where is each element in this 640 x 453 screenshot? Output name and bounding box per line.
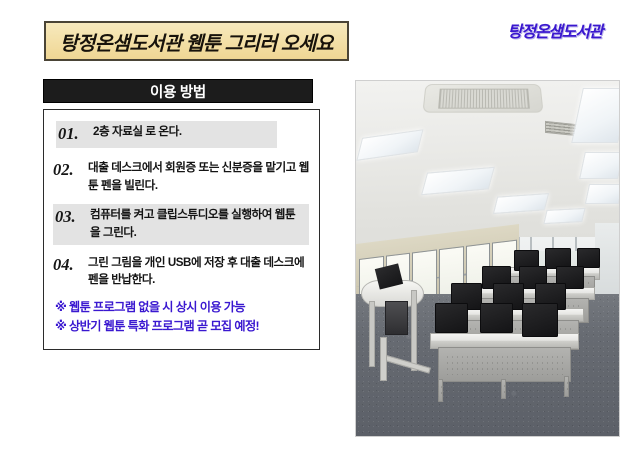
step-number: 04. <box>53 254 85 276</box>
lectern-leg <box>411 290 417 370</box>
room-photo-image <box>356 81 619 436</box>
desk-modesty-panel <box>438 347 572 383</box>
cart-bar <box>380 337 387 382</box>
desk-leg <box>564 376 570 398</box>
notes-block: ※ 웹툰 프로그램 없을 시 상시 이용 가능 ※ 상반기 웹툰 특화 프로그램… <box>51 298 312 336</box>
room-photo <box>355 80 620 437</box>
step-number: 02. <box>53 159 85 181</box>
step-text: 대출 데스크에서 회원증 또는 신분증을 맡기고 웹툰 펜을 빌린다. <box>88 159 312 195</box>
ceiling-ac-unit <box>423 84 544 113</box>
page-header: 탕정온샘도서관 웹툰 그리러 오세요 탕정온샘도서관 <box>0 0 640 72</box>
ceiling-light <box>585 184 620 204</box>
page-title: 탕정온샘도서관 웹툰 그리러 오세요 <box>60 27 333 56</box>
step-text: 2층 자료실 로 온다. <box>93 123 182 141</box>
usage-panel: 이용 방법 01. 2층 자료실 로 온다. 02. 대출 데스크에서 회원증 … <box>43 79 321 350</box>
ceiling-light <box>544 208 586 224</box>
monitor <box>522 303 558 337</box>
monitor <box>577 248 600 268</box>
desktop-pc-tower <box>385 301 408 335</box>
section-header-label: 이용 방법 <box>150 81 206 102</box>
step-text: 그린 그림을 개인 USB에 저장 후 대출 데스크에 펜을 반납한다. <box>88 254 312 290</box>
desk-leg <box>501 379 506 399</box>
monitor <box>480 303 514 333</box>
library-logo: 탕정온샘도서관 <box>484 18 626 42</box>
list-item: 03. 컴퓨터를 켜고 클립스튜디오를 실행하여 웹툰을 그린다. <box>53 204 309 245</box>
step-number: 03. <box>55 206 87 228</box>
desk-leg <box>438 379 444 402</box>
monitor <box>435 303 469 333</box>
step-number: 01. <box>58 123 90 145</box>
list-item: 04. 그린 그림을 개인 USB에 저장 후 대출 데스크에 펜을 반납한다. <box>53 254 312 290</box>
section-header: 이용 방법 <box>43 79 313 103</box>
list-item: 01. 2층 자료실 로 온다. <box>56 121 277 148</box>
ceiling-light <box>493 193 549 214</box>
steps-list: 01. 2층 자료실 로 온다. 02. 대출 데스크에서 회원증 또는 신분증… <box>43 109 320 350</box>
list-item: 02. 대출 데스크에서 회원증 또는 신분증을 맡기고 웹툰 펜을 빌린다. <box>53 159 312 195</box>
title-banner: 탕정온샘도서관 웹툰 그리러 오세요 <box>44 21 349 61</box>
note-line: ※ 웹툰 프로그램 없을 시 상시 이용 가능 <box>55 298 312 317</box>
ceiling-light <box>579 152 620 179</box>
ac-grill <box>438 88 530 108</box>
note-line: ※ 상반기 웹툰 특화 프로그램 곧 모집 예정! <box>55 317 312 336</box>
step-text: 컴퓨터를 켜고 클립스튜디오를 실행하여 웹툰을 그린다. <box>90 206 305 242</box>
lectern-leg <box>369 301 375 367</box>
